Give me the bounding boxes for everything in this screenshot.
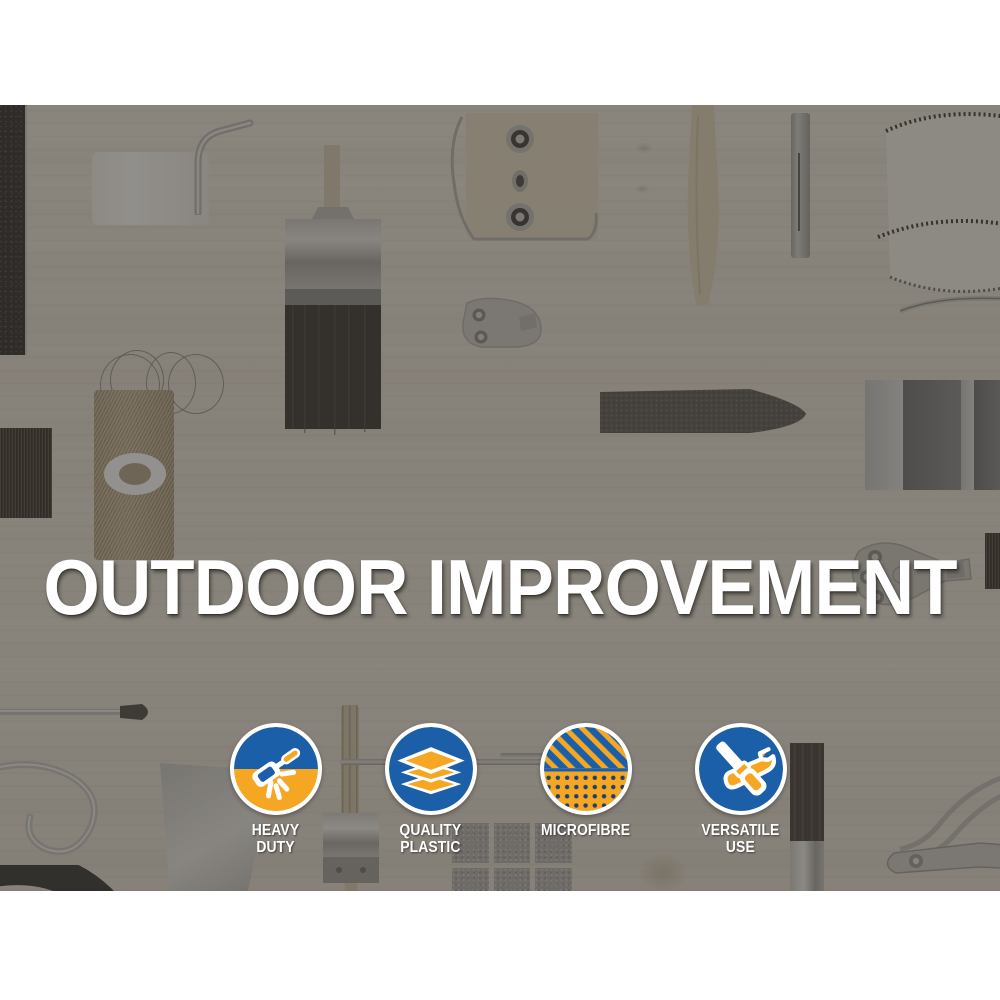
- feature-label: HEAVY DUTY: [233, 823, 319, 856]
- hero-banner-image: OUTDOOR IMPROVEMENT: [0, 105, 1000, 891]
- feature-versatile-use[interactable]: VERSATILE USE: [693, 723, 788, 856]
- microfibre-texture-icon: [544, 727, 628, 811]
- screwdriver-wrench-icon: [699, 727, 783, 811]
- paint-roller-spray-icon: [234, 727, 318, 811]
- page-title: OUTDOOR IMPROVEMENT: [35, 548, 965, 626]
- page-canvas: OUTDOOR IMPROVEMENT: [0, 0, 1000, 1000]
- badge-quality-plastic[interactable]: [385, 723, 477, 815]
- feature-heavy-duty[interactable]: HEAVY DUTY: [228, 723, 323, 856]
- feature-label: MICROFIBRE: [541, 823, 630, 840]
- badge-heavy-duty[interactable]: [230, 723, 322, 815]
- feature-label: VERSATILE USE: [701, 823, 779, 856]
- badge-versatile-use[interactable]: [695, 723, 787, 815]
- layered-sheets-icon: [389, 727, 473, 811]
- feature-label: QUALITY PLASTIC: [400, 823, 462, 856]
- feature-quality-plastic[interactable]: QUALITY PLASTIC: [383, 723, 478, 856]
- badge-microfibre[interactable]: [540, 723, 632, 815]
- feature-badges-row: HEAVY DUTY: [228, 723, 788, 856]
- feature-microfibre[interactable]: MICROFIBRE: [538, 723, 633, 840]
